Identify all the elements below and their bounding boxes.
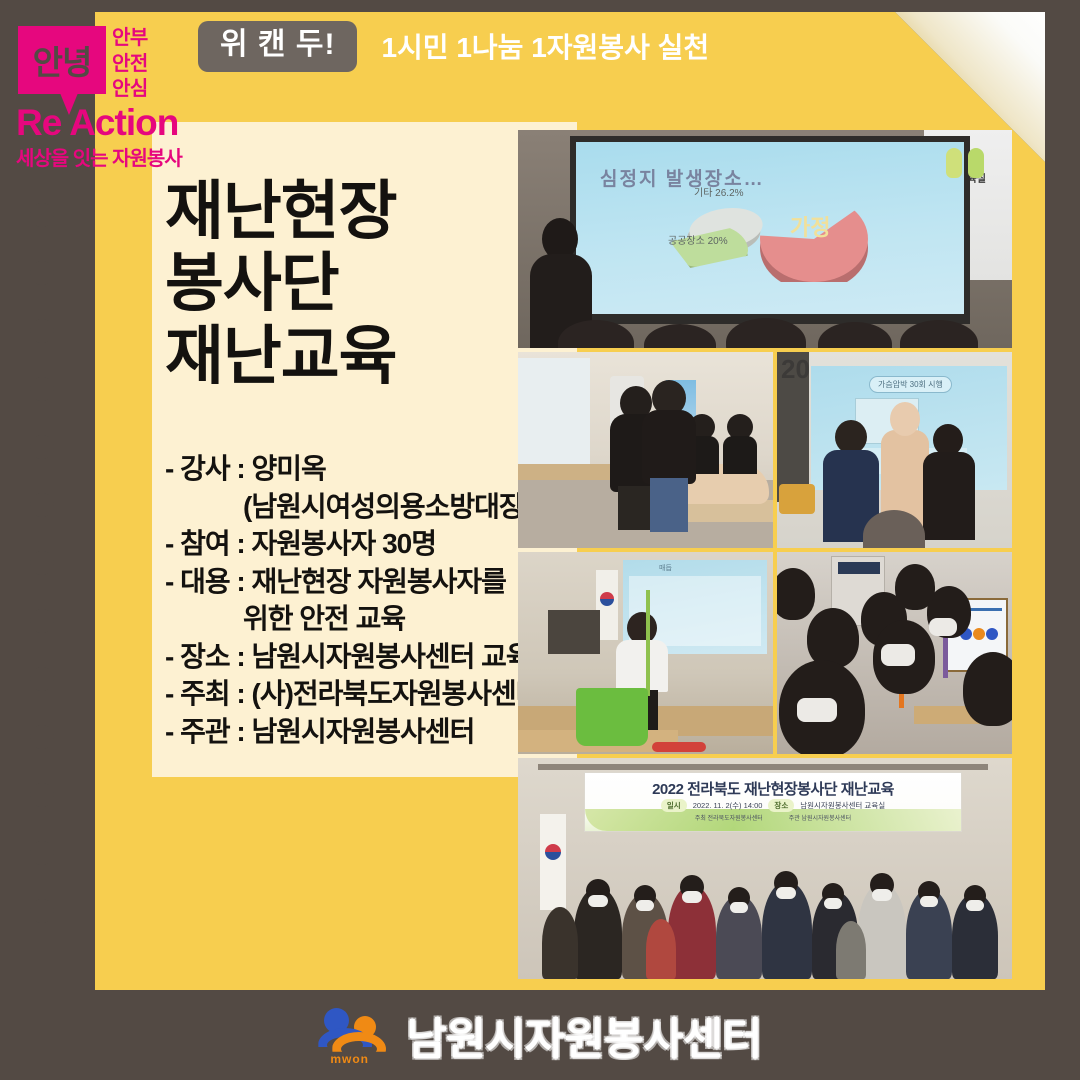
banner-organizer-label: 주관: [789, 816, 800, 822]
photo-lecture-slide: 20 재난- 사센터 교육실 봉사센터 심정지 발생장소… 기타 26.2% 공…: [518, 130, 1012, 348]
campaign-badge: 위 캔 두!: [198, 21, 357, 72]
slide-caption: 가슴압박 30회 시행: [869, 376, 952, 393]
binding-ring: [0, 324, 64, 338]
pie-label-home: 가정: [790, 214, 830, 242]
binding-ring: [0, 904, 64, 918]
photo-group-practice: [777, 552, 1012, 754]
binding-ring: [0, 266, 64, 280]
banner-place-value: 남원시자원봉사센터 교육실: [800, 800, 885, 811]
title-line-1: 재난현장: [165, 175, 397, 247]
seated-observers: [689, 414, 759, 474]
detail-list: - 강사 : 양미옥 (남원시여성의용소방대장) - 참여 : 자원봉사자 30…: [165, 450, 565, 750]
banner-host-value: 전라북도자원봉사센터: [708, 816, 763, 822]
red-rope: [652, 742, 706, 752]
title-line-2: 봉사단: [165, 247, 397, 319]
detail-item: - 대용 : 재난현장 자원봉사자를: [165, 563, 565, 601]
banner-place-label: 장소: [768, 799, 794, 812]
korean-flag: [540, 814, 566, 910]
photo-year-fragment: 20: [781, 354, 810, 385]
logo-keyword: 안심: [112, 77, 148, 103]
binding-ring: [0, 498, 64, 512]
banner-host-label: 주최: [695, 816, 706, 822]
detail-item: (남원시여성의용소방대장): [165, 488, 565, 526]
binding-ring: [0, 556, 64, 570]
page-title: 재난현장 봉사단 재난교육: [165, 175, 397, 392]
event-banner: 2022 전라북도 재난현장봉사단 재난교육 일시 2022. 11. 2(수)…: [584, 772, 962, 832]
organization-name: 남원시자원봉사센터: [406, 1003, 761, 1067]
mascot-icon: [946, 148, 990, 182]
banner-organizer-value: 남원시자원봉사센터: [801, 816, 851, 822]
logo-mark-word: mwon: [330, 1052, 369, 1066]
assistant-figure: [923, 424, 975, 540]
brand-logo: 안녕 안부 안전 안심 Re Action 세상을 잇는 자원봉사: [16, 20, 196, 170]
binding-ring: [0, 614, 64, 628]
pie-label-public: 공공장소 20%: [668, 236, 728, 249]
photo-rope-demo: 매듭: [518, 552, 773, 754]
detail-item: - 주관 : 남원시자원봉사센터: [165, 713, 565, 751]
demo-person-b: [642, 380, 696, 530]
photo-collage: 20 재난- 사센터 교육실 봉사센터 심정지 발생장소… 기타 26.2% 공…: [518, 130, 1008, 975]
green-rope: [646, 590, 650, 696]
binding-ring: [0, 846, 64, 860]
binding-ring: [0, 788, 64, 802]
event-banner-title: 2022 전라북도 재난현장봉사단 재난교육: [585, 778, 961, 799]
banner-date-value: 2022. 11. 2(수) 14:00: [693, 800, 763, 811]
audience-heads: [518, 296, 1012, 348]
green-bag: [576, 688, 648, 746]
top-banner: 위 캔 두! 1시민 1나눔 1자원봉사 실천: [198, 15, 709, 77]
promo-card: 20 재난- 사센터 교육실 봉사센터 심정지 발생장소… 기타 26.2% 공…: [0, 0, 1080, 1080]
campaign-tagline: 1시민 1나눔 1자원봉사 실천: [381, 26, 709, 66]
photo-group-portrait: 2022 전라북도 재난현장봉사단 재난교육 일시 2022. 11. 2(수)…: [518, 758, 1012, 979]
slide-title: 심정지 발생장소…: [600, 164, 765, 191]
logo-keyword: 안부: [112, 26, 148, 52]
banner-date-label: 일시: [661, 799, 687, 812]
spiral-binding: [0, 150, 70, 940]
logo-slogan: 세상을 잇는 자원봉사: [16, 142, 182, 171]
binding-ring: [0, 672, 64, 686]
logo-keyword: 안전: [112, 52, 148, 78]
detail-item: - 주최 : (사)전라북도자원봉사센터: [165, 675, 565, 713]
detail-item: 위한 안전 교육: [165, 600, 565, 638]
logo-keywords: 안부 안전 안심: [112, 26, 148, 103]
binding-ring: [0, 730, 64, 744]
binding-ring: [0, 208, 64, 222]
pie-label-other: 기타 26.2%: [694, 188, 744, 201]
logo-greeting: 안녕: [18, 26, 106, 94]
detail-item: - 강사 : 양미옥: [165, 450, 565, 488]
footer: mwon 남원시자원봉사센터: [0, 990, 1080, 1080]
title-line-3: 재난교육: [165, 320, 397, 392]
photo-cpr-manikin: 20 가슴압박 30회 시행: [777, 352, 1012, 548]
photo-heimlich-demo: [518, 352, 773, 548]
center-logo-icon: mwon: [318, 1006, 390, 1064]
binding-ring: [0, 440, 64, 454]
detail-item: - 장소 : 남원시자원봉사센터 교육실: [165, 638, 565, 676]
binding-ring: [0, 382, 64, 396]
logo-brand-name: Re Action: [16, 102, 178, 144]
detail-item: - 참여 : 자원봉사자 30명: [165, 525, 565, 563]
